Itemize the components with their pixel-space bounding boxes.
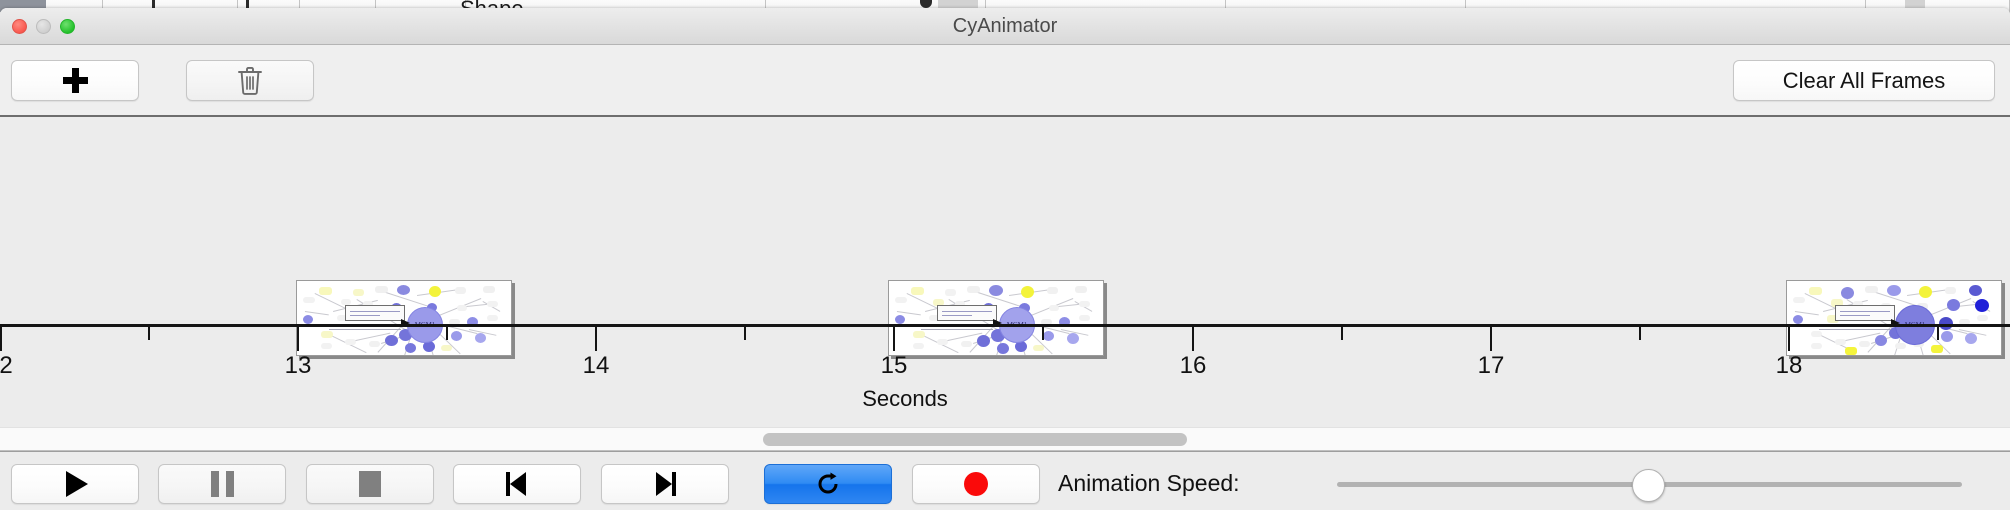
timeline-axis: 2 13 14 15 16 17 18 Seconds (0, 324, 2010, 424)
animation-speed-slider[interactable] (1337, 482, 1962, 487)
delete-frame-button[interactable] (186, 60, 314, 101)
axis-tick-label: 15 (881, 352, 908, 380)
plus-icon (63, 68, 88, 93)
axis-tick-minor (446, 327, 448, 340)
axis-tick-major (297, 327, 299, 351)
add-frame-button[interactable] (11, 60, 139, 101)
play-icon (66, 471, 88, 497)
axis-tick-major (1788, 327, 1790, 351)
frames-strip: MCM1 (0, 117, 2010, 322)
play-button[interactable] (11, 464, 139, 504)
pause-icon (211, 471, 234, 497)
cyanimator-window: CyAnimator Clear All Frames (0, 8, 2010, 510)
horizontal-scrollbar[interactable] (0, 427, 2010, 451)
trash-icon (237, 66, 263, 95)
axis-tick-minor (148, 327, 150, 340)
network-tooltip (937, 305, 997, 321)
skip-to-start-button[interactable] (453, 464, 581, 504)
axis-tick-major (595, 327, 597, 351)
loop-button[interactable] (764, 464, 892, 504)
axis-tick-major (893, 327, 895, 351)
pause-button[interactable] (158, 464, 286, 504)
axis-tick-label: 14 (583, 352, 610, 380)
window-title: CyAnimator (0, 8, 2010, 44)
axis-tick-major (0, 327, 2, 351)
axis-title: Seconds (0, 386, 2010, 412)
horizontal-scrollbar-thumb[interactable] (763, 433, 1187, 446)
axis-tick-minor (1042, 327, 1044, 340)
axis-tick-minor (1937, 327, 1939, 340)
stop-button[interactable] (306, 464, 434, 504)
timeline-area[interactable]: MCM1 (0, 117, 2010, 427)
axis-tick-major (1192, 327, 1194, 351)
record-button[interactable] (912, 464, 1040, 504)
axis-tick-minor (1341, 327, 1343, 340)
skip-to-end-icon (654, 472, 676, 496)
network-tooltip (345, 305, 405, 321)
axis-tick-label: 18 (1776, 352, 1803, 380)
axis-tick-major (1490, 327, 1492, 351)
toolbar: Clear All Frames (0, 45, 2010, 117)
animation-speed-label: Animation Speed: (1058, 452, 1240, 510)
playback-bar: Animation Speed: (0, 451, 2010, 510)
axis-tick-label: 2 (0, 352, 13, 380)
record-icon (964, 472, 988, 496)
stop-icon (359, 471, 381, 497)
axis-title-text: Seconds (862, 386, 948, 411)
axis-tick-minor (1639, 327, 1641, 340)
network-tooltip (1835, 305, 1895, 321)
axis-tick-label: 17 (1478, 352, 1505, 380)
axis-tick-minor (744, 327, 746, 340)
skip-to-start-icon (506, 472, 528, 496)
axis-line (0, 324, 2010, 327)
clear-all-frames-button[interactable]: Clear All Frames (1733, 60, 1995, 101)
loop-icon (815, 471, 841, 497)
axis-tick-label: 13 (285, 352, 312, 380)
skip-to-end-button[interactable] (601, 464, 729, 504)
titlebar: CyAnimator (0, 8, 2010, 45)
animation-speed-thumb[interactable] (1632, 469, 1665, 502)
axis-tick-label: 16 (1180, 352, 1207, 380)
